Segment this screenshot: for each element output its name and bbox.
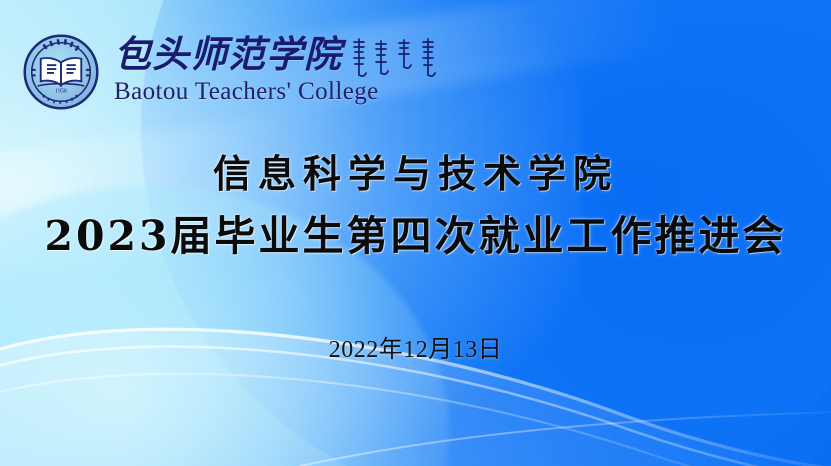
seal-year: 1958 — [55, 88, 67, 94]
brand-name-english: Baotou Teachers' College — [114, 78, 379, 106]
university-seal-icon: 1958 — [22, 33, 100, 111]
title-slide: 1958 包头师范学院 — [0, 0, 831, 466]
brand-text-block: 包头师范学院 — [114, 33, 442, 106]
mongolian-script-icon — [350, 35, 442, 79]
slide-title-line-1: 信息科学与技术学院 — [0, 150, 831, 198]
brand-name-row: 包头师范学院 — [114, 35, 442, 79]
brand-header: 1958 包头师范学院 — [22, 33, 442, 111]
slide-title-block: 信息科学与技术学院 2023届毕业生第四次就业工作推进会 — [0, 150, 831, 263]
slide-title-line-2: 2023届毕业生第四次就业工作推进会 — [0, 210, 831, 263]
brand-name-chinese: 包头师范学院 — [114, 35, 342, 74]
slide-date: 2022年12月13日 — [0, 329, 831, 364]
